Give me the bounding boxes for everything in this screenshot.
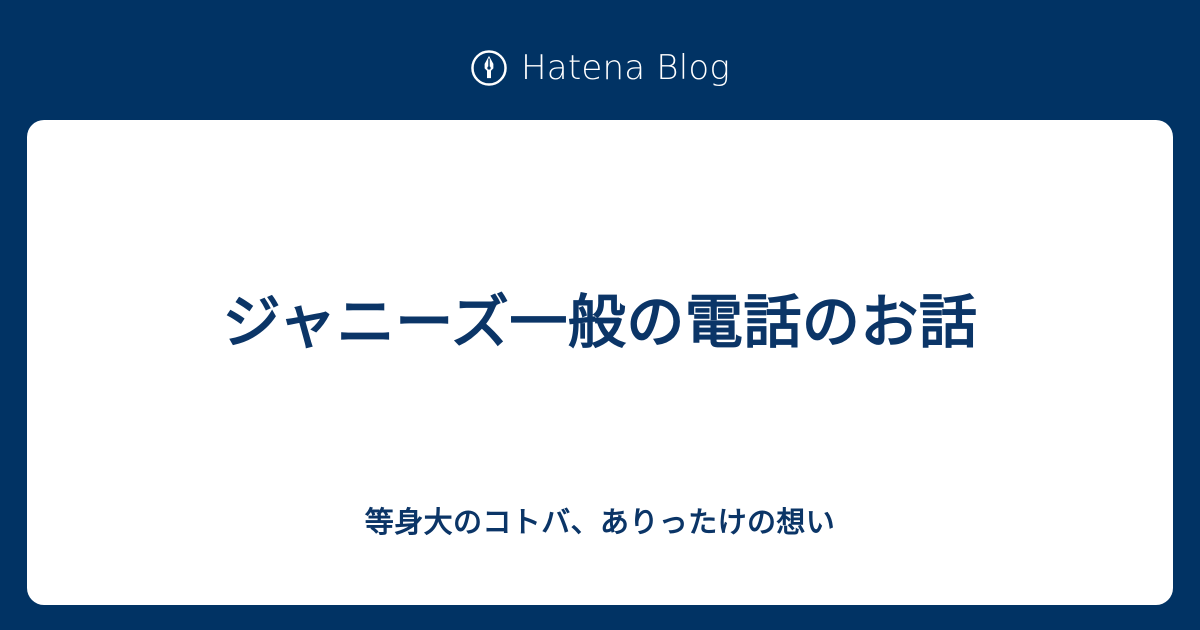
hatena-blog-brand: Hatena Blog [0, 40, 1200, 96]
entry-card: ジャニーズ一般の電話のお話 等身大のコトバ、ありったけの想い [27, 120, 1173, 605]
brand-name: Hatena Blog [521, 49, 730, 87]
hatena-pen-nib-icon [470, 49, 508, 87]
blog-subtitle: 等身大のコトバ、ありったけの想い [27, 503, 1173, 541]
entry-card-inner: ジャニーズ一般の電話のお話 等身大のコトバ、ありったけの想い [27, 120, 1173, 605]
entry-title: ジャニーズ一般の電話のお話 [27, 288, 1173, 356]
ogp-card-root: Hatena Blog ジャニーズ一般の電話のお話 等身大のコトバ、ありったけの… [0, 0, 1200, 630]
